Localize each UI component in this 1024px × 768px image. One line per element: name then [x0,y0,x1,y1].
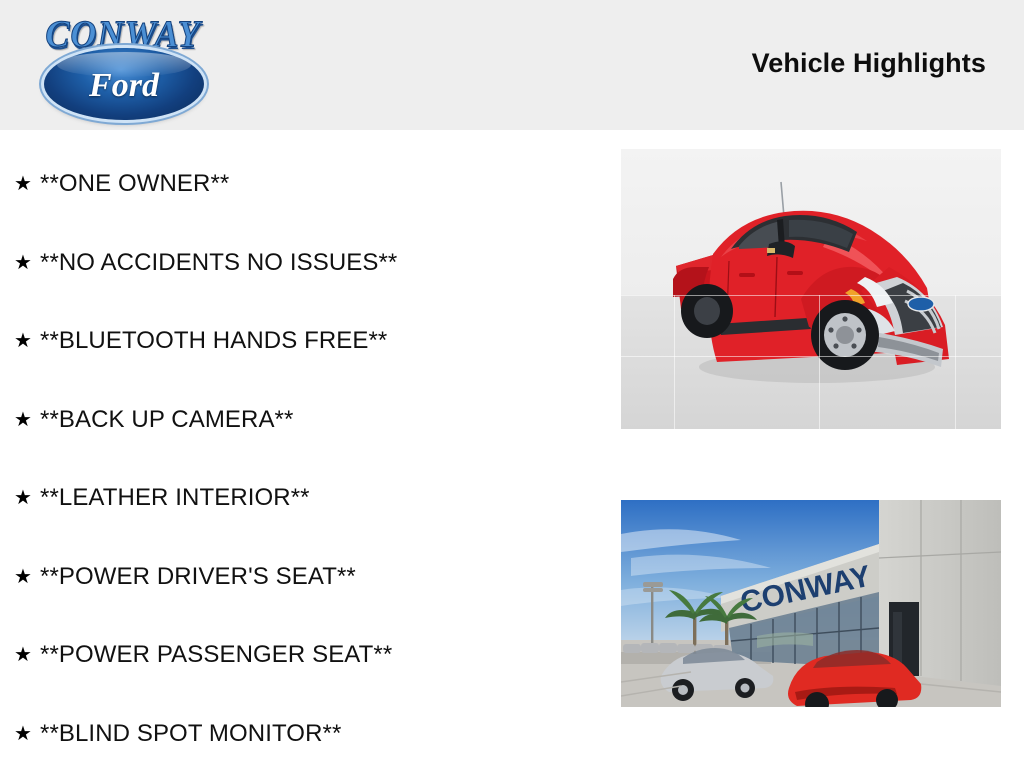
list-item: ★ **ONE OWNER** [0,145,600,224]
list-item-label: **POWER DRIVER'S SEAT** [40,563,356,591]
list-item-label: **LEATHER INTERIOR** [40,484,310,512]
list-item: ★ **BLUETOOTH HANDS FREE** [0,302,600,381]
star-bullet-icon: ★ [14,410,40,430]
truck-illustration [621,149,1001,429]
list-item-label: **BACK UP CAMERA** [40,406,293,434]
list-item: ★ **NO ACCIDENTS NO ISSUES** [0,224,600,303]
star-bullet-icon: ★ [14,488,40,508]
conway-ford-logo[interactable]: CONWAY Ford [22,8,222,120]
page-header: CONWAY Ford Vehicle Highlights [0,0,1024,130]
list-item-label: **ONE OWNER** [40,170,229,198]
highlights-list: ★ **ONE OWNER** ★ **NO ACCIDENTS NO ISSU… [0,130,600,768]
ford-oval-icon: Ford [44,48,204,120]
list-item: ★ **POWER PASSENGER SEAT** [0,616,600,695]
star-bullet-icon: ★ [14,724,40,744]
list-item: ★ **POWER DRIVER'S SEAT** [0,538,600,617]
star-bullet-icon: ★ [14,253,40,273]
dealership-illustration: CONWAY [621,500,1001,707]
page-title: Vehicle Highlights [752,48,986,79]
star-bullet-icon: ★ [14,645,40,665]
star-bullet-icon: ★ [14,331,40,351]
dealership-photo[interactable]: CONWAY [621,500,1001,707]
vehicle-highlights-page: CONWAY Ford Vehicle Highlights ★ **ONE O… [0,0,1024,768]
logo-ford-script: Ford [44,50,204,120]
star-bullet-icon: ★ [14,567,40,587]
star-bullet-icon: ★ [14,174,40,194]
list-item: ★ **LEATHER INTERIOR** [0,459,600,538]
list-item-label: **BLIND SPOT MONITOR** [40,720,341,748]
list-item-label: **POWER PASSENGER SEAT** [40,641,392,669]
list-item: ★ **BLIND SPOT MONITOR** [0,695,600,768]
list-item: ★ **BACK UP CAMERA** [0,381,600,460]
list-item-label: **BLUETOOTH HANDS FREE** [40,327,387,355]
vehicle-photo[interactable] [621,149,1001,429]
list-item-label: **NO ACCIDENTS NO ISSUES** [40,249,397,277]
